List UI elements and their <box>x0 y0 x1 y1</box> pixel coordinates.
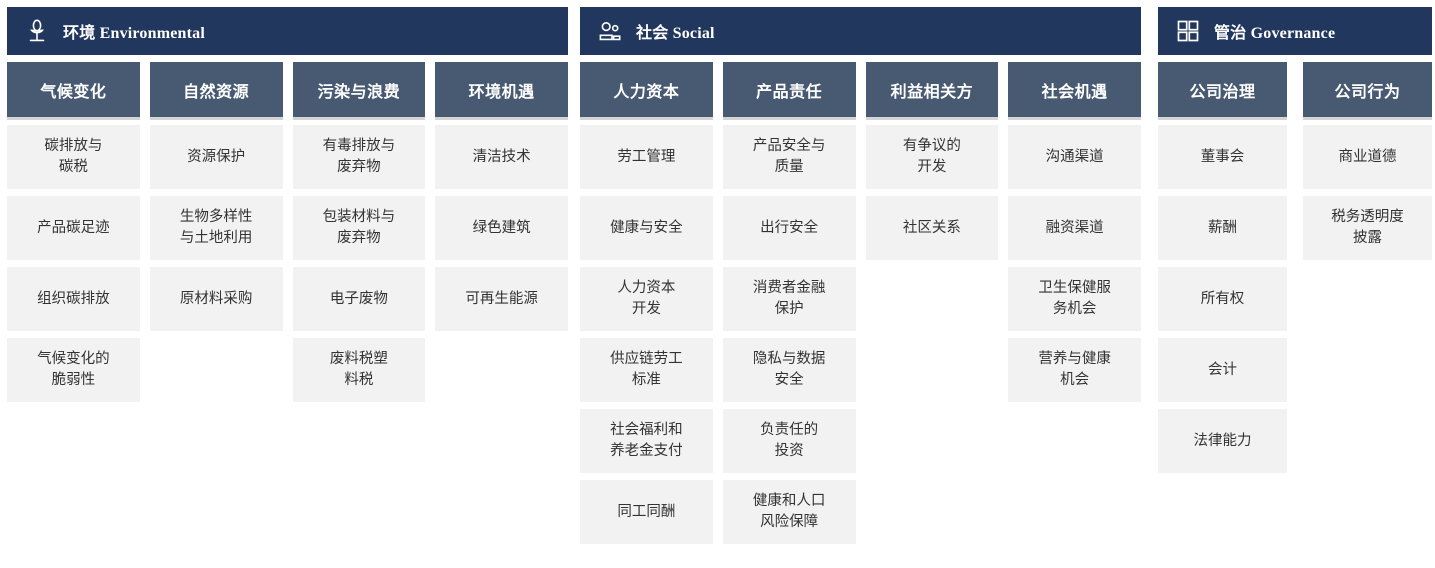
cell-item[interactable]: 资源保护 <box>150 125 283 189</box>
cell-empty <box>1008 480 1141 544</box>
column-header-row-social: 人力资本 产品责任 利益相关方 社会机遇 <box>580 62 1141 117</box>
cell-item[interactable]: 融资渠道 <box>1008 196 1141 260</box>
column-header-human-capital[interactable]: 人力资本 <box>580 62 713 117</box>
cell-item[interactable]: 同工同酬 <box>580 480 713 544</box>
cell-item[interactable]: 产品安全与 质量 <box>723 125 856 189</box>
cell-item[interactable]: 董事会 <box>1158 125 1287 189</box>
cell-item[interactable]: 负责任的 投资 <box>723 409 856 473</box>
cell-empty <box>435 338 568 402</box>
column-header-corporate-governance[interactable]: 公司治理 <box>1158 62 1287 117</box>
cell-empty <box>150 338 283 402</box>
column-product-liability: 产品安全与 质量 出行安全 消费者金融 保护 隐私与数据 安全 负责任的 投资 … <box>723 125 856 551</box>
cell-grid-social: 劳工管理 健康与安全 人力资本 开发 供应链劳工 标准 社会福利和 养老金支付 … <box>580 125 1141 551</box>
cell-item[interactable]: 卫生保健服 务机会 <box>1008 267 1141 331</box>
cell-empty <box>1008 409 1141 473</box>
esg-framework-board: 环境 Environmental 气候变化 自然资源 污染与浪费 环境机遇 碳排… <box>0 0 1435 568</box>
column-environmental-opportunities: 清洁技术 绿色建筑 可再生能源 <box>435 125 568 409</box>
section-social: 社会 Social 人力资本 产品责任 利益相关方 社会机遇 劳工管理 健康与安… <box>580 7 1141 551</box>
grid-squares-icon <box>1174 17 1202 45</box>
cell-item[interactable]: 供应链劳工 标准 <box>580 338 713 402</box>
cell-item[interactable]: 沟通渠道 <box>1008 125 1141 189</box>
column-human-capital: 劳工管理 健康与安全 人力资本 开发 供应链劳工 标准 社会福利和 养老金支付 … <box>580 125 713 551</box>
section-title-social: 社会 Social <box>636 19 715 43</box>
cell-item[interactable]: 有争议的 开发 <box>866 125 999 189</box>
cell-empty <box>866 338 999 402</box>
cell-item[interactable]: 法律能力 <box>1158 409 1287 473</box>
column-header-climate-change[interactable]: 气候变化 <box>7 62 140 117</box>
cell-grid-governance: 董事会 薪酬 所有权 会计 法律能力 商业道德 税务透明度 披露 <box>1158 125 1432 480</box>
column-header-pollution-waste[interactable]: 污染与浪费 <box>293 62 426 117</box>
cell-item[interactable]: 原材料采购 <box>150 267 283 331</box>
cell-item[interactable]: 废料税塑 料税 <box>293 338 426 402</box>
cell-item[interactable]: 商业道德 <box>1303 125 1432 189</box>
cell-item[interactable]: 电子废物 <box>293 267 426 331</box>
cell-item[interactable]: 生物多样性 与土地利用 <box>150 196 283 260</box>
cell-item[interactable]: 包装材料与 废弃物 <box>293 196 426 260</box>
cell-item[interactable]: 所有权 <box>1158 267 1287 331</box>
cell-empty <box>866 409 999 473</box>
column-stakeholders: 有争议的 开发 社区关系 <box>866 125 999 551</box>
column-header-product-liability[interactable]: 产品责任 <box>723 62 856 117</box>
cell-grid-environmental: 碳排放与 碳税 产品碳足迹 组织碳排放 气候变化的 脆弱性 资源保护 生物多样性… <box>7 125 568 409</box>
people-group-icon <box>596 17 624 45</box>
section-title-environmental: 环境 Environmental <box>63 19 205 43</box>
cell-item[interactable]: 绿色建筑 <box>435 196 568 260</box>
cell-item[interactable]: 有毒排放与 废弃物 <box>293 125 426 189</box>
cell-item[interactable]: 劳工管理 <box>580 125 713 189</box>
cell-item[interactable]: 社会福利和 养老金支付 <box>580 409 713 473</box>
cell-item[interactable]: 碳排放与 碳税 <box>7 125 140 189</box>
section-environmental: 环境 Environmental 气候变化 自然资源 污染与浪费 环境机遇 碳排… <box>7 7 568 409</box>
column-natural-resources: 资源保护 生物多样性 与土地利用 原材料采购 <box>150 125 283 409</box>
column-header-stakeholders[interactable]: 利益相关方 <box>866 62 999 117</box>
column-corporate-governance: 董事会 薪酬 所有权 会计 法律能力 <box>1158 125 1287 480</box>
section-header-social: 社会 Social <box>580 7 1141 55</box>
column-header-natural-resources[interactable]: 自然资源 <box>150 62 283 117</box>
cell-item[interactable]: 健康与安全 <box>580 196 713 260</box>
cell-empty <box>1303 267 1432 331</box>
section-title-governance: 管治 Governance <box>1214 19 1335 43</box>
cell-item[interactable]: 税务透明度 披露 <box>1303 196 1432 260</box>
section-header-governance: 管治 Governance <box>1158 7 1432 55</box>
cell-item[interactable]: 气候变化的 脆弱性 <box>7 338 140 402</box>
column-header-corporate-behaviour[interactable]: 公司行为 <box>1303 62 1432 117</box>
cell-item[interactable]: 产品碳足迹 <box>7 196 140 260</box>
column-pollution-waste: 有毒排放与 废弃物 包装材料与 废弃物 电子废物 废料税塑 料税 <box>293 125 426 409</box>
cell-item[interactable]: 清洁技术 <box>435 125 568 189</box>
cell-item[interactable]: 出行安全 <box>723 196 856 260</box>
column-header-row-governance: 公司治理 公司行为 <box>1158 62 1432 117</box>
cell-item[interactable]: 薪酬 <box>1158 196 1287 260</box>
cell-item[interactable]: 人力资本 开发 <box>580 267 713 331</box>
cell-item[interactable]: 社区关系 <box>866 196 999 260</box>
section-header-environmental: 环境 Environmental <box>7 7 568 55</box>
cell-empty <box>1303 338 1432 402</box>
section-governance: 管治 Governance 公司治理 公司行为 董事会 薪酬 所有权 会计 法律… <box>1158 7 1432 480</box>
column-corporate-behaviour: 商业道德 税务透明度 披露 <box>1303 125 1432 480</box>
column-header-social-opportunities[interactable]: 社会机遇 <box>1008 62 1141 117</box>
cell-item[interactable]: 可再生能源 <box>435 267 568 331</box>
cell-empty <box>1303 409 1432 473</box>
cell-empty <box>866 480 999 544</box>
column-header-environmental-opportunities[interactable]: 环境机遇 <box>435 62 568 117</box>
cell-item[interactable]: 健康和人口 风险保障 <box>723 480 856 544</box>
cell-item[interactable]: 消费者金融 保护 <box>723 267 856 331</box>
plant-leaf-icon <box>23 17 51 45</box>
column-social-opportunities: 沟通渠道 融资渠道 卫生保健服 务机会 营养与健康 机会 <box>1008 125 1141 551</box>
cell-item[interactable]: 营养与健康 机会 <box>1008 338 1141 402</box>
cell-item[interactable]: 会计 <box>1158 338 1287 402</box>
column-climate-change: 碳排放与 碳税 产品碳足迹 组织碳排放 气候变化的 脆弱性 <box>7 125 140 409</box>
cell-item[interactable]: 隐私与数据 安全 <box>723 338 856 402</box>
cell-empty <box>866 267 999 331</box>
cell-item[interactable]: 组织碳排放 <box>7 267 140 331</box>
column-header-row-environmental: 气候变化 自然资源 污染与浪费 环境机遇 <box>7 62 568 117</box>
